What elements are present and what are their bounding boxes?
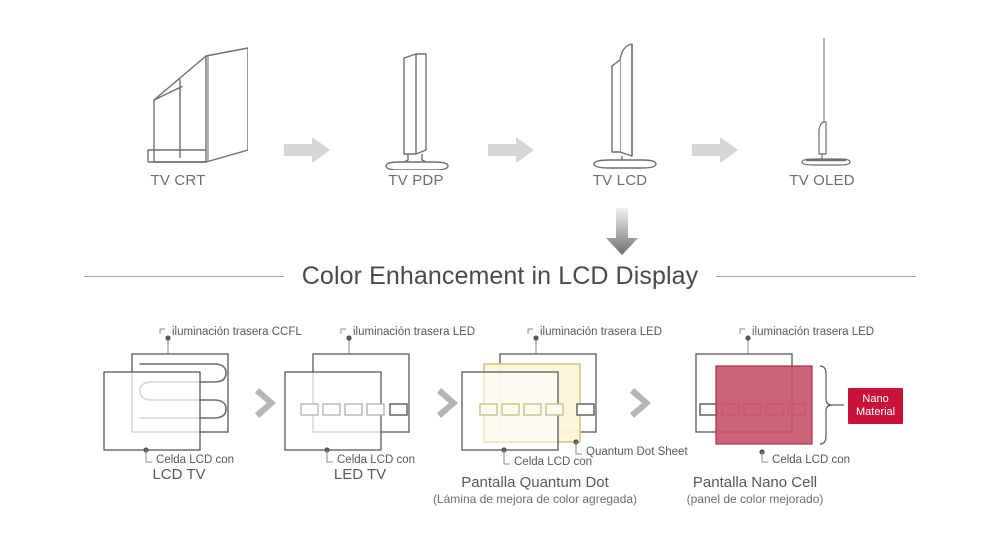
panel-title: Pantalla Nano Cell [640,474,870,491]
title-rule-right [716,276,916,277]
panel-comparison-row: iluminación trasera CCFL Celda LCD con L… [0,326,1000,526]
crt-tv-icon [88,30,268,170]
title-rule-left [84,276,284,277]
tv-evolution-item-crt: TV CRT [88,30,268,189]
callout-backlight: iluminación trasera LED [752,326,874,338]
callout-lcd-cell: Celda LCD con [156,454,234,466]
right-arrow-icon [284,135,332,165]
nano-cell-panel-art: iluminación trasera LED Celda LCD con Na… [640,326,940,466]
right-arrow-icon [488,135,536,165]
tv-evolution-row: TV CRT TV PDP [0,30,1000,210]
quantum-dot-panel-art: iluminación trasera LED Celda LCD con Qu… [420,326,650,466]
pdp-tv-icon [326,30,506,170]
panel-nano-cell: iluminación trasera LED Celda LCD con Na… [640,326,940,506]
nano-badge-line2: Material [856,406,895,418]
tv-evolution-label: TV OLED [732,172,912,189]
oled-tv-icon [732,30,912,170]
callout-lcd-cell: Celda LCD con [337,454,415,466]
tv-evolution-item-oled: TV OLED [732,30,912,189]
tv-evolution-label: TV LCD [530,172,710,189]
section-title-band: Color Enhancement in LCD Display [0,256,1000,296]
tv-evolution-item-lcd: TV LCD [530,30,710,189]
callout-lcd-cell: Celda LCD con [772,454,850,466]
nano-badge-line1: Nano [862,393,888,405]
panel-quantum-dot: iluminación trasera LED Celda LCD con Qu… [420,326,650,506]
callout-lcd-cell: Celda LCD con [514,456,592,468]
lcd-tv-icon [530,30,710,170]
panel-subtitle: (panel de color mejorado) [640,492,870,506]
down-arrow-icon [605,208,639,256]
tv-evolution-item-pdp: TV PDP [326,30,506,189]
page-title: Color Enhancement in LCD Display [302,262,698,291]
tv-evolution-label: TV CRT [88,172,268,189]
nano-material-badge: Nano Material [848,388,903,424]
panel-subtitle: (Lámina de mejora de color agregada) [420,492,650,506]
diagram-root: TV CRT TV PDP [0,0,1000,560]
panel-title: Pantalla Quantum Dot [420,474,650,491]
tv-evolution-label: TV PDP [326,172,506,189]
